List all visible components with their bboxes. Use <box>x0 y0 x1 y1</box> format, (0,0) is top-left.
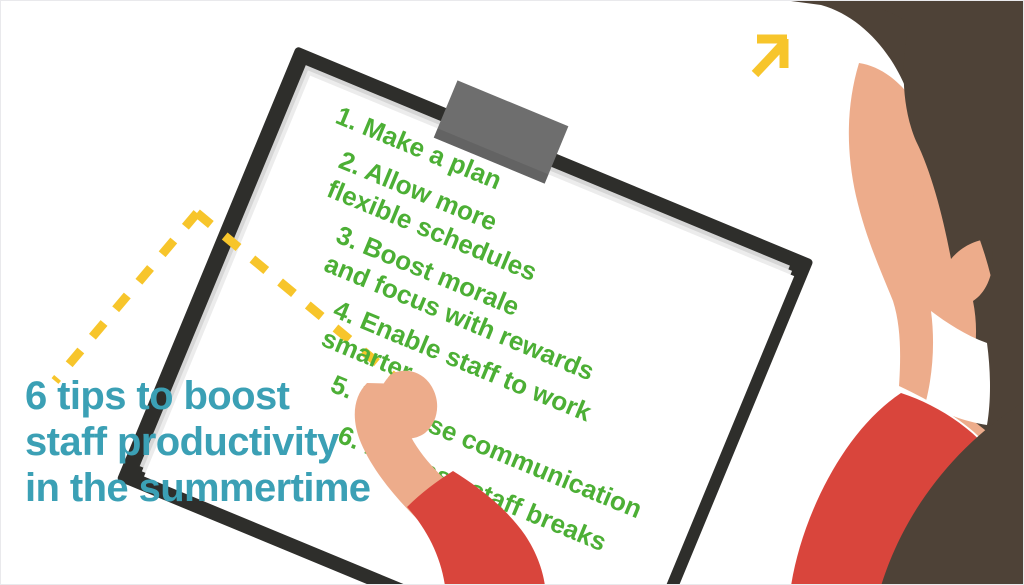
artboard: 1. Make a plan 2. Allow more flexible sc… <box>1 1 1024 585</box>
arrow-up-right-icon <box>1 1 1024 585</box>
infographic-canvas: 1. Make a plan 2. Allow more flexible sc… <box>0 0 1024 585</box>
